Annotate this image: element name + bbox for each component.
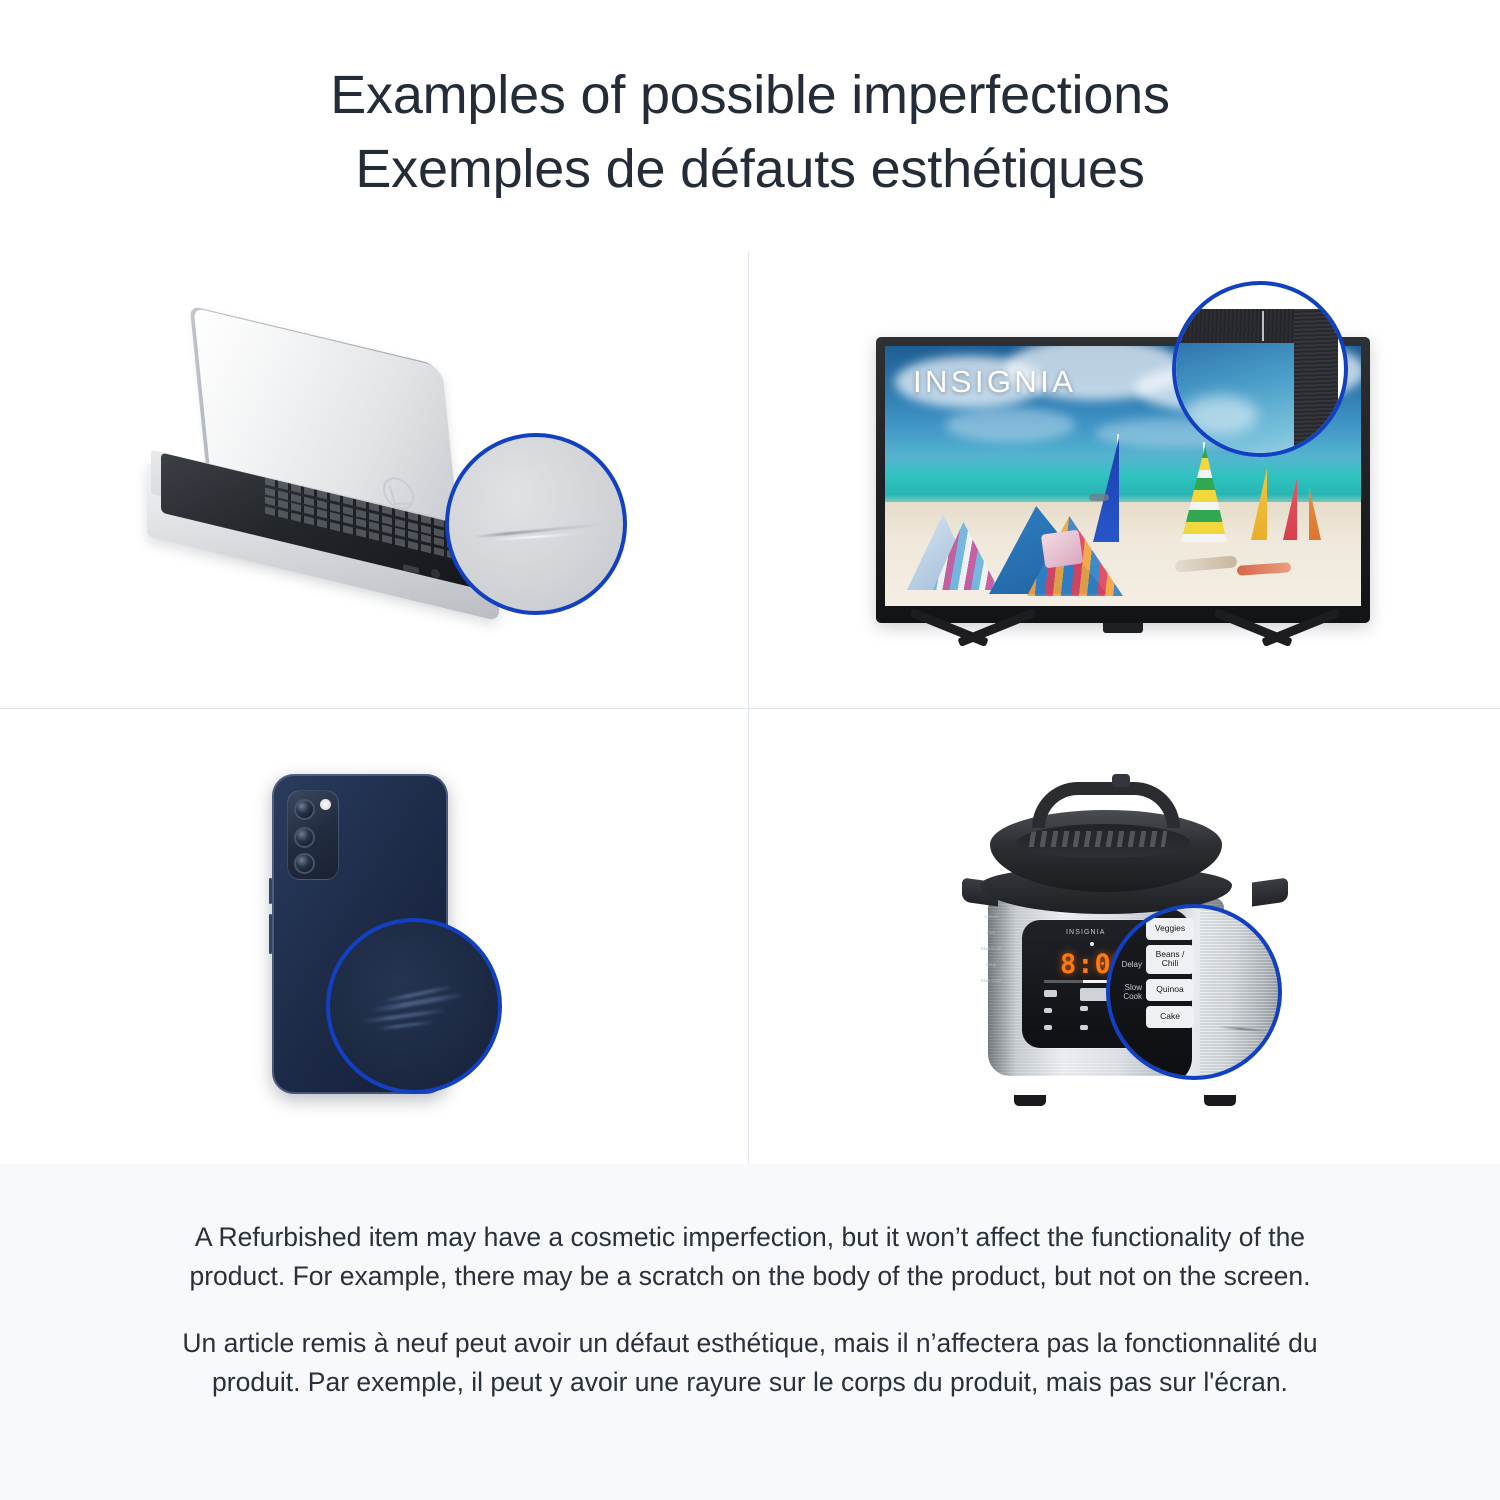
cooker-button-less[interactable]	[1044, 990, 1057, 997]
cooker-left-label-column: Cancel Rice Slow Cook Soup Slow Cook	[978, 912, 1004, 987]
cooker-button-manual[interactable]	[1044, 1008, 1052, 1013]
laptop-magnifier-circle	[445, 433, 627, 615]
example-cell-pressure-cooker: INSIGNIA 8:00 Start Fish	[750, 708, 1500, 1164]
cooker-magnified-button[interactable]: Veggies	[1146, 918, 1194, 940]
cooker-lid-handle	[1032, 782, 1180, 828]
refurbished-imperfections-infographic: Examples of possible imperfections Exemp…	[0, 0, 1500, 1500]
cooker-magnified-left-labels: Delay Slow Cook	[1108, 960, 1142, 1001]
phone-scuff-mark-4	[376, 1020, 434, 1030]
television-illustration: INSIGNIA	[860, 293, 1390, 673]
cooker-magnified-buttons: Veggies Beans / Chili Quinoa Cake	[1146, 918, 1194, 1028]
cooker-foot-right	[1204, 1095, 1236, 1106]
cooker-magnifier-circle: Delay Slow Cook Veggies Beans / Chili Qu…	[1106, 904, 1282, 1080]
cooker-magnified-left-label: Slow Cook	[1108, 983, 1142, 1001]
tv-screen-brand-text: INSIGNIA	[913, 364, 1076, 400]
cooker-button-slowcook[interactable]	[1080, 1025, 1088, 1030]
phone-camera-flash-icon	[320, 799, 331, 810]
cooker-lid-face	[1016, 824, 1191, 858]
tv-bezel-imperfection-mark	[1262, 311, 1264, 341]
cooker-indicator-light-icon	[1090, 942, 1094, 946]
cooker-magnified-left-label: Delay	[1108, 960, 1142, 969]
page-header: Examples of possible imperfections Exemp…	[0, 0, 1500, 252]
cooker-left-label: Slow Cook	[978, 976, 1004, 987]
cooker-left-label: Cancel	[978, 912, 1004, 923]
page-title-en: Examples of possible imperfections	[0, 58, 1500, 132]
footer-paragraph-fr: Un article remis à neuf peut avoir un dé…	[150, 1324, 1350, 1402]
cooker-magnified-button[interactable]: Quinoa	[1146, 979, 1194, 1001]
cooker-steam-valve-icon	[1112, 774, 1130, 787]
phone-camera-lens-2-icon	[294, 827, 315, 848]
page-footer: A Refurbished item may have a cosmetic i…	[0, 1164, 1500, 1500]
example-cell-television: INSIGNIA	[750, 252, 1500, 708]
tv-magnifier-circle	[1172, 281, 1348, 457]
cooker-left-label: Soup	[978, 960, 1004, 971]
cooker-button-yogurt[interactable]	[1044, 1025, 1052, 1030]
page-title-fr: Exemples de défauts esthétiques	[0, 132, 1500, 206]
example-cell-smartphone	[0, 708, 750, 1164]
cooker-side-handle-right	[1252, 877, 1288, 906]
tv-magnified-bezel-right	[1294, 309, 1338, 457]
example-cell-laptop	[0, 252, 750, 708]
tv-chin-logo-bump	[1103, 623, 1143, 633]
pressure-cooker-illustration: INSIGNIA 8:00 Start Fish	[960, 762, 1290, 1112]
cooker-magnified-button[interactable]: Beans / Chili	[1146, 945, 1194, 974]
cooker-magnified-button[interactable]: Cake	[1146, 1006, 1194, 1028]
cooker-brand-text: INSIGNIA	[1066, 929, 1106, 936]
cooker-button-keepwarm[interactable]	[1080, 1006, 1088, 1011]
phone-camera-lens-1-icon	[294, 799, 315, 820]
footer-paragraph-en: A Refurbished item may have a cosmetic i…	[150, 1218, 1350, 1296]
cooker-left-label: Slow Cook	[978, 944, 1004, 955]
cooker-foot-left	[1014, 1095, 1046, 1106]
cooker-left-label: Rice	[978, 928, 1004, 939]
phone-magnifier-circle	[326, 918, 502, 1094]
phone-camera-lens-3-icon	[294, 853, 315, 874]
examples-grid: INSIGNIA	[0, 252, 1500, 1164]
smartphone-illustration	[232, 766, 532, 1106]
phone-power-button	[269, 914, 272, 954]
laptop-illustration	[145, 335, 615, 635]
phone-volume-button	[269, 878, 272, 904]
phone-camera-module	[287, 790, 339, 880]
